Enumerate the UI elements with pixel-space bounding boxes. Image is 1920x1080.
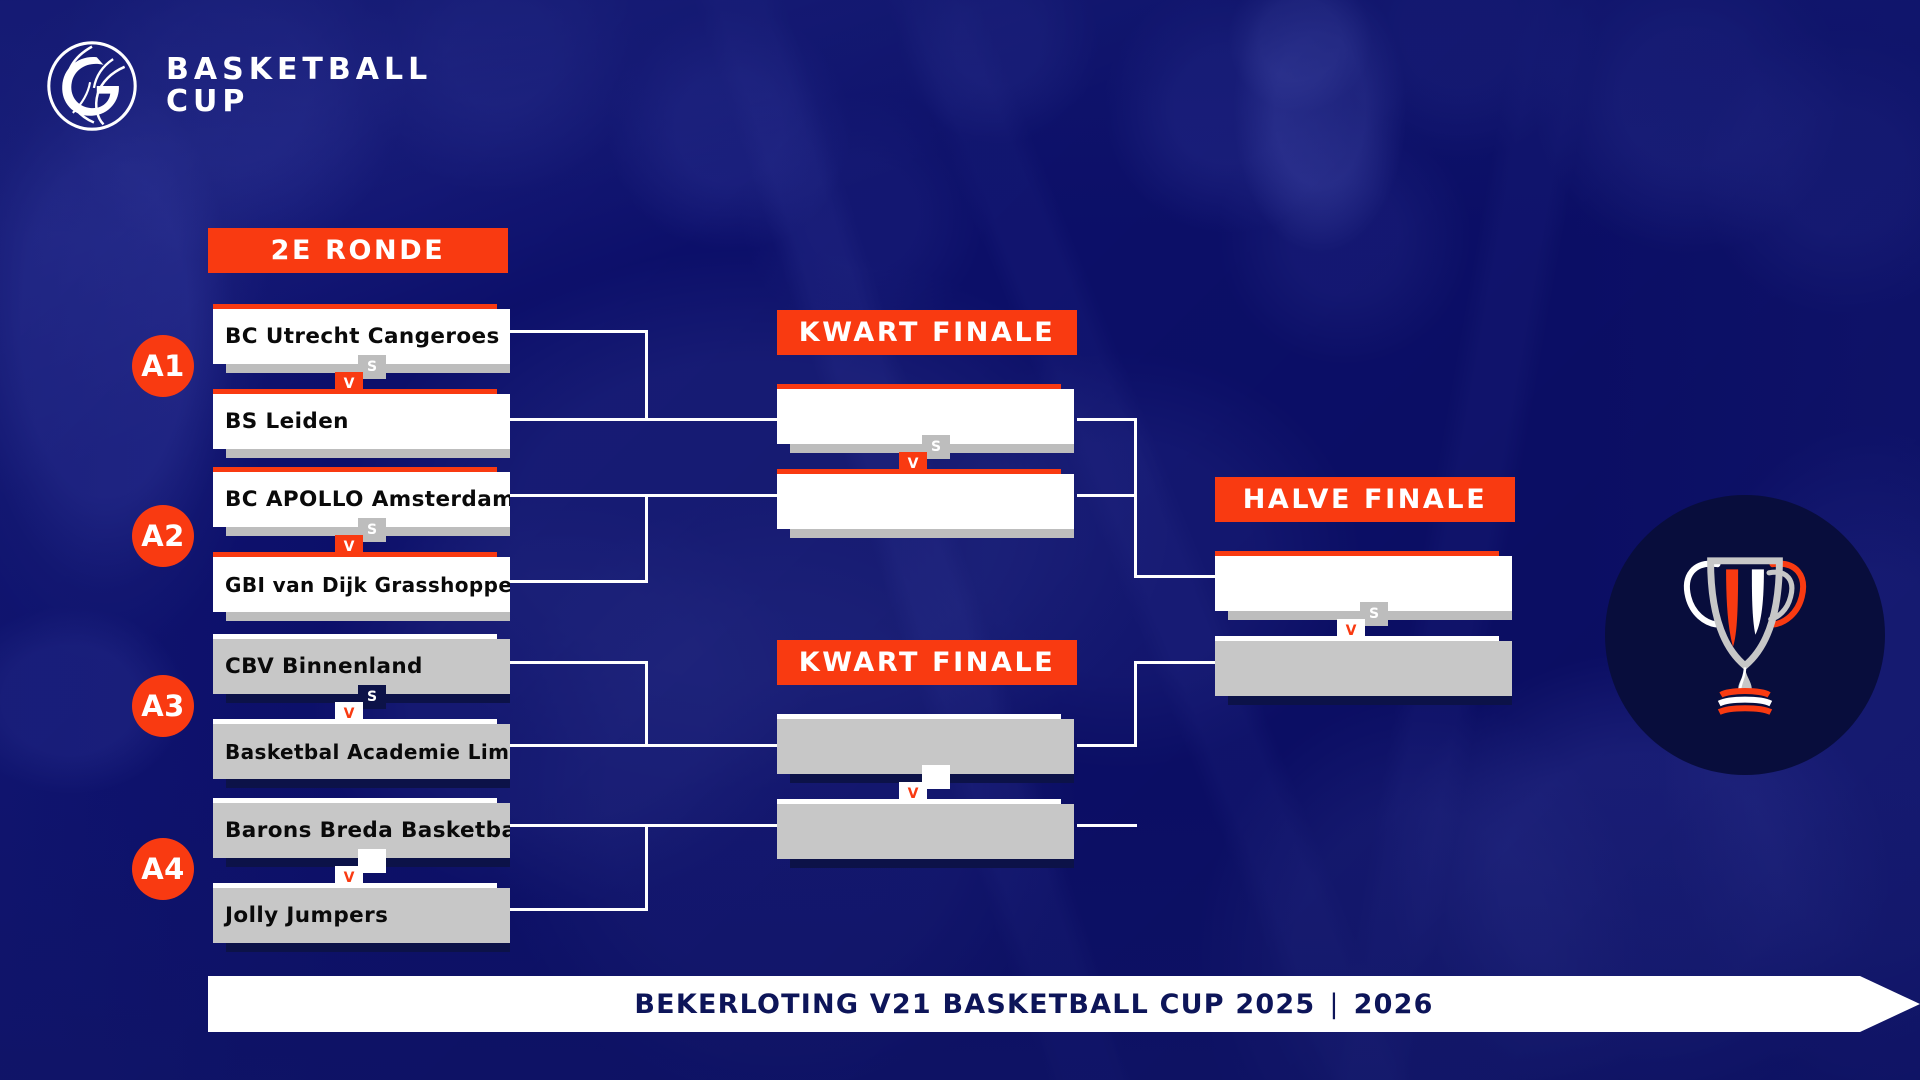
connector-a1-top [508,330,648,333]
connector-a2-vertical [645,494,648,583]
connector-a1-vertical [645,330,648,421]
seed-label-a3: A3 [132,675,194,737]
connector-a3-vertical [645,661,648,747]
connector-a3-bottom [508,744,648,747]
connector-a4-vertical [645,824,648,911]
round-title-quarter-final-bottom: KWART FINALE [777,640,1077,685]
seed-label-a2: A2 [132,505,194,567]
connector-a4-bottom [508,908,648,911]
connector-a2-bottom [508,580,648,583]
footer-separator: | [1329,989,1339,1020]
slot-shadow-bar [1228,696,1512,705]
round-title-quarter-final-top: KWART FINALE [777,310,1077,355]
round-title-second-round: 2E RONDE [208,228,508,273]
connector-a2-top [508,494,648,497]
team-name-box[interactable] [1215,641,1512,696]
slot-shadow-bar [226,779,510,788]
round-title-semi-final: HALVE FINALE [1215,477,1515,522]
slot-shadow-bar [226,449,510,458]
connector-a4-out [645,824,780,827]
tournament-bracket: 2E RONDE KWART FINALE KWART FINALE HALVE… [0,0,1920,1080]
connector-qf1-out [1134,575,1219,578]
trophy-cup-icon [1659,538,1831,732]
trophy-badge [1605,495,1885,775]
slot-shadow-bar [226,943,510,952]
connector-a1-bottom [508,418,648,421]
slot-shadow-bar [790,859,1074,868]
team-name-box[interactable]: GBI van Dijk Grasshoppers [213,557,510,612]
connector-qf2-bottom [1077,824,1137,827]
connector-qf1-bottom [1077,494,1137,497]
connector-qf1-top [1077,418,1137,421]
team-name-box[interactable] [777,474,1074,529]
connector-a3-top [508,661,648,664]
team-name-box[interactable]: BS Leiden [213,394,510,449]
connector-qf2-vertical [1134,661,1137,747]
footer-season: 2026 [1354,989,1434,1020]
seed-label-a4: A4 [132,838,194,900]
team-name-box[interactable] [777,804,1074,859]
footer-banner-arrow-tip [1860,976,1920,1032]
connector-a2-out [645,494,780,497]
connector-qf1-vertical [1134,418,1137,578]
slot-shadow-bar [790,529,1074,538]
footer-banner-text: BEKERLOTING V21 BASKETBALL CUP 2025 | 20… [208,976,1860,1032]
connector-a3-out [645,744,780,747]
connector-qf2-top [1077,744,1137,747]
team-name-box[interactable]: Jolly Jumpers [213,888,510,943]
seed-label-a1: A1 [132,335,194,397]
footer-title: BEKERLOTING V21 BASKETBALL CUP 2025 [634,989,1315,1020]
team-name-box[interactable]: Basketbal Academie Limburg [213,724,510,779]
connector-a4-top [508,824,648,827]
connector-qf2-out [1134,661,1219,664]
slot-shadow-bar [226,612,510,621]
connector-a1-out [645,418,780,421]
footer-banner: BEKERLOTING V21 BASKETBALL CUP 2025 | 20… [208,976,1920,1032]
